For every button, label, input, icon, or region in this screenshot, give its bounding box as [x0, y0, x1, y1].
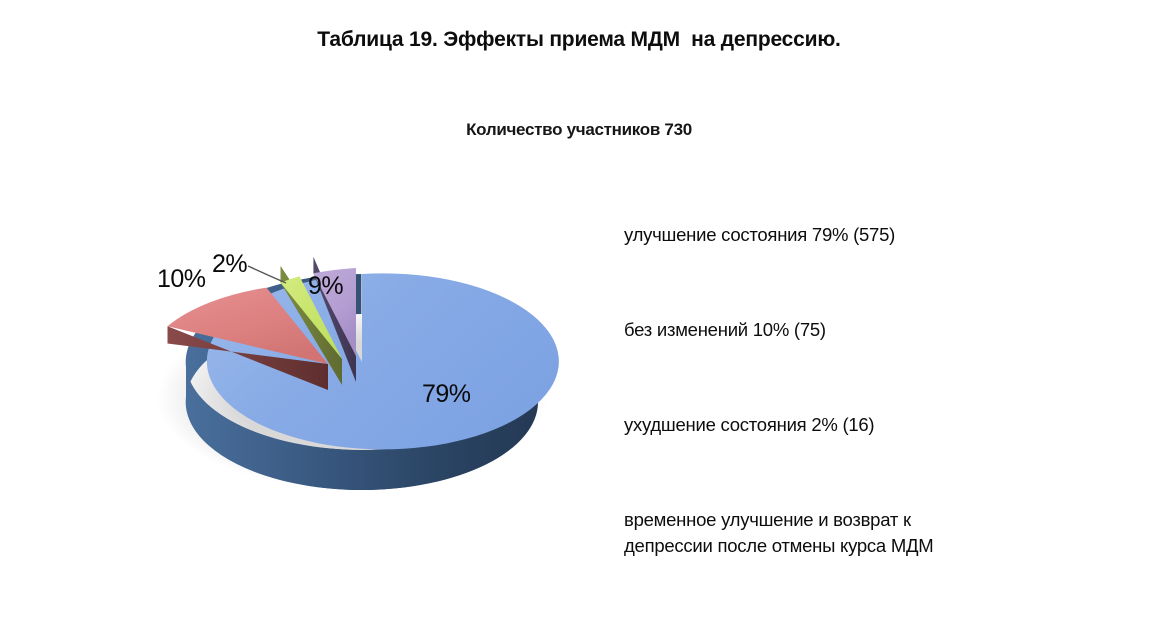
- leader-line-2-percent: [248, 266, 286, 283]
- pie-label-9-percent: 9%: [308, 272, 343, 301]
- legend-item-worsening: ухудшение состояния 2% (16): [624, 412, 874, 438]
- pie-label-10-percent: 10%: [157, 265, 206, 294]
- page-title: Таблица 19. Эффекты приема МДМ на депрес…: [0, 28, 1158, 52]
- pie-chart: 79% 9% 2% 10%: [130, 240, 600, 490]
- legend-item-improvement: улучшение состояния 79% (575): [624, 222, 895, 248]
- pie-label-79-percent: 79%: [422, 380, 471, 409]
- legend-item-temporary-improvement: временное улучшение и возврат к депресси…: [624, 507, 933, 559]
- legend-item-no-change: без изменений 10% (75): [624, 317, 826, 343]
- pie-label-2-percent: 2%: [212, 250, 247, 279]
- chart-subtitle: Количество участников 730: [0, 120, 1158, 140]
